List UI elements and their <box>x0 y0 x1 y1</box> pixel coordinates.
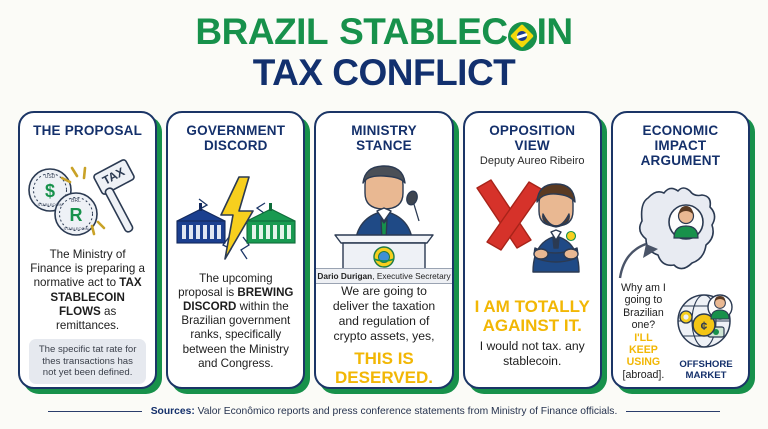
speaker-name-badge: Dario Durigan, Executive Secretary <box>314 268 453 284</box>
card-title: MINISTRY STANCE <box>325 123 442 153</box>
card-title: OPPOSITION VIEW <box>474 123 591 153</box>
page-title: BRAZIL STABLEC IN TAX CONFLICT <box>0 0 768 94</box>
globe-coins-icon: ¢ <box>670 291 742 353</box>
card-quote-highlight: THIS IS DESERVED. <box>325 349 442 389</box>
title-word-in: IN <box>537 11 573 53</box>
title-word-brazil: BRAZIL <box>195 11 328 53</box>
card-opposition-view[interactable]: OPPOSITION VIEW Deputy Aureo Ribeiro <box>463 111 602 389</box>
red-x-man-crossed-arms-illustration <box>467 174 597 274</box>
offshore-highlight: I'LL KEEP USING <box>619 332 668 369</box>
card-title: ECONOMIC IMPACT ARGUMENT <box>619 123 742 168</box>
title-line-1: BRAZIL STABLEC IN <box>0 11 768 53</box>
card-quote-body: I would not tax. any stablecoin. <box>474 339 591 379</box>
footer-rule-left <box>48 411 142 413</box>
footer-text: Sources: Valor Econômico reports and pre… <box>151 406 618 417</box>
card-title: THE PROPOSAL <box>33 123 142 138</box>
card-body: The upcoming proposal is BREWING DISCORD… <box>177 272 294 379</box>
title-line-2: TAX CONFLICT <box>0 52 768 94</box>
brazil-flag-circle-icon <box>508 22 537 51</box>
svg-text:R: R <box>69 205 82 225</box>
card-quote-highlight: I AM TOTALLY AGAINST IT. <box>474 297 591 335</box>
split-buildings-lightning-illustration <box>169 175 303 263</box>
svg-text:USD: USD <box>44 174 55 180</box>
stablecoin-coins-tax-gavel-illustration: USD $ STABLECOIN BRL R STABLECOIN <box>22 156 154 248</box>
offshore-question-block: Why am I going to Brazilian one? I'LL KE… <box>619 282 668 381</box>
card-quote-body: We are going to deliver the taxation and… <box>325 284 442 344</box>
sources-footer: Sources: Valor Econômico reports and pre… <box>0 406 768 417</box>
card-economic-impact-argument[interactable]: ECONOMIC IMPACT ARGUMENT Why am I going … <box>611 111 750 389</box>
svg-text:STABLECOIN: STABLECOIN <box>37 202 62 207</box>
speaker-role: , Executive Secretary <box>372 271 450 281</box>
brazil-map-offshore-globe-illustration <box>614 174 746 282</box>
card-the-proposal[interactable]: THE PROPOSAL USD $ STABLECOIN BRL R STAB… <box>18 111 157 389</box>
svg-text:¢: ¢ <box>701 319 708 333</box>
card-ministry-stance[interactable]: MINISTRY STANCE <box>314 111 453 389</box>
speaker-name: Dario Durigan <box>317 271 372 281</box>
official-at-podium-illustration <box>321 159 447 271</box>
offshore-row: Why am I going to Brazilian one? I'LL KE… <box>619 282 742 381</box>
card-subtitle: Deputy Aureo Ribeiro <box>480 155 585 168</box>
title-word-stablec: STABLEC <box>339 11 507 53</box>
card-body: The Ministry of Finance is preparing a n… <box>29 248 146 333</box>
card-note: The specific tat rate for thes transacti… <box>29 339 146 384</box>
card-title: GOVERNMENT DISCORD <box>177 123 294 153</box>
offshore-globe-block: ¢ OFFSHORE MARKET <box>670 291 742 381</box>
offshore-question: Why am I going to Brazilian one? <box>619 282 668 332</box>
svg-text:BRL: BRL <box>71 198 81 204</box>
footer-label: Sources: <box>151 406 195 417</box>
svg-text:$: $ <box>45 181 55 201</box>
offshore-market-label: OFFSHORE MARKET <box>670 359 742 381</box>
card-government-discord[interactable]: GOVERNMENT DISCORD <box>166 111 305 389</box>
svg-text:STABLECOIN: STABLECOIN <box>63 226 88 231</box>
footer-body: Valor Econômico reports and press confer… <box>195 406 618 417</box>
offshore-tail: [abroad]. <box>619 369 668 381</box>
footer-rule-right <box>626 411 720 413</box>
cards-row: THE PROPOSAL USD $ STABLECOIN BRL R STAB… <box>18 111 750 389</box>
